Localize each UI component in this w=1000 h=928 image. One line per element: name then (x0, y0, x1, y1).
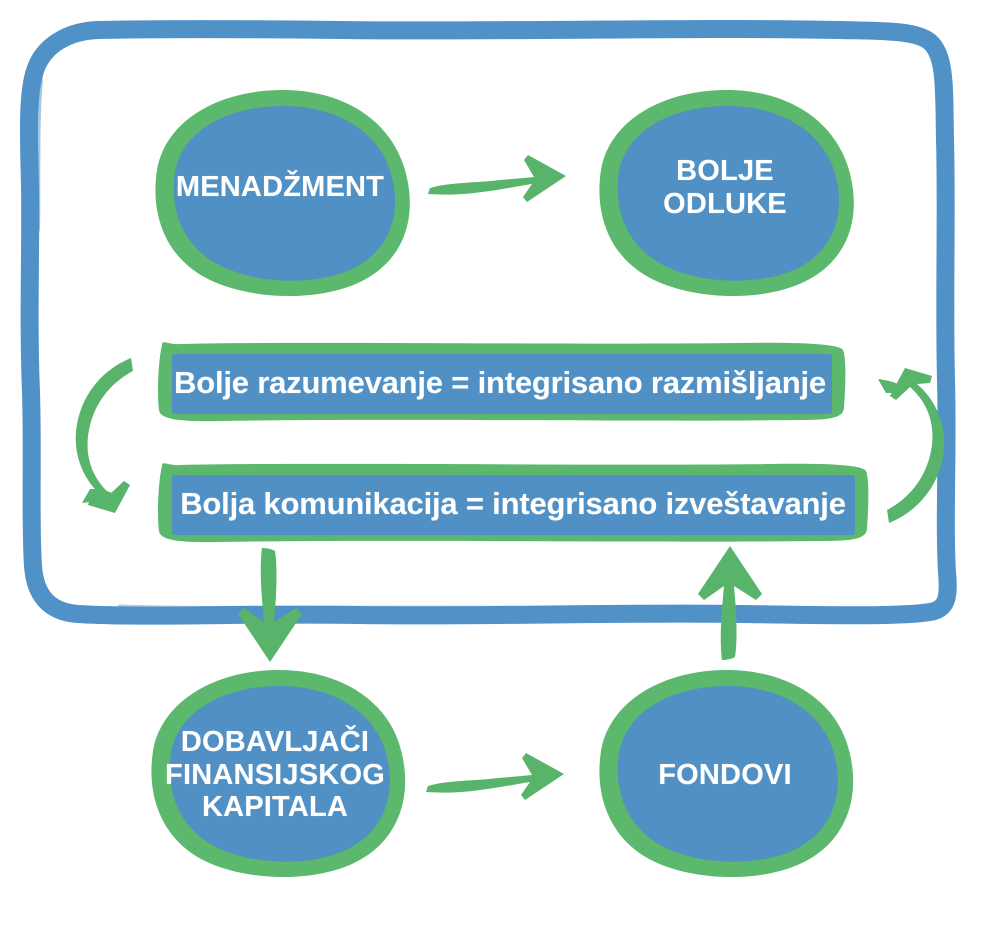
arrow-right-curve-up (878, 368, 944, 523)
arrow-left-curve-down (76, 358, 133, 513)
node-circle-capital[interactable] (151, 670, 405, 877)
arrow-capital-to-funds (426, 753, 564, 800)
banner-communication[interactable] (158, 463, 868, 542)
arrow-management-to-decisions (428, 155, 566, 202)
diagram-graphics (0, 0, 1000, 928)
node-circle-management[interactable] (155, 90, 409, 296)
arrow-down-to-capital (238, 548, 302, 662)
diagram-canvas: MENADŽMENT BOLJE ODLUKE DOBAVLJAČI FINAN… (0, 0, 1000, 928)
banner-understanding[interactable] (158, 342, 845, 421)
arrow-up-from-funds (698, 546, 762, 660)
node-circle-funds[interactable] (599, 670, 853, 877)
node-circle-decisions[interactable] (599, 90, 853, 296)
